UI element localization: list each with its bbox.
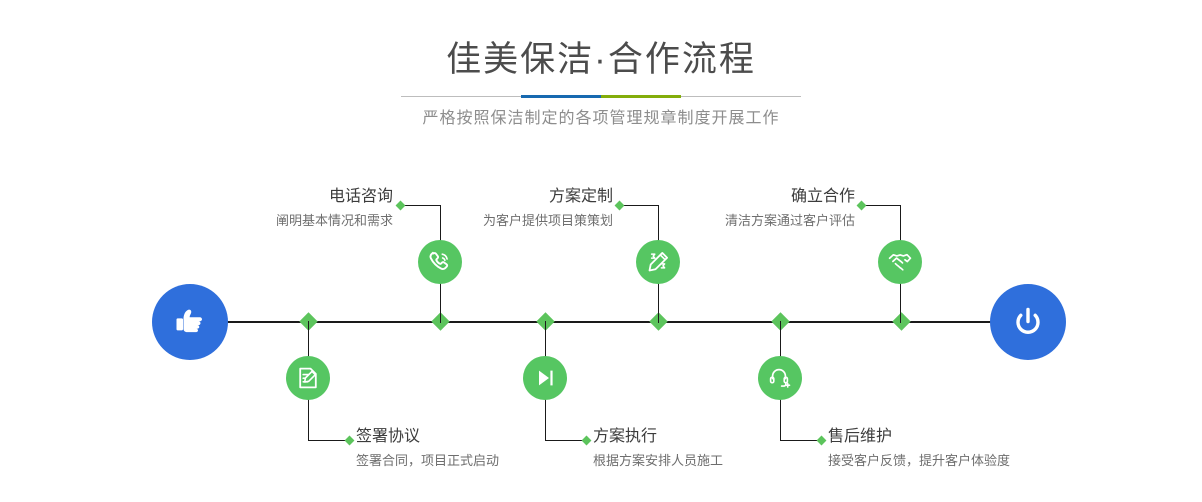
- step-desc-1: 阐明基本情况和需求: [150, 214, 393, 227]
- label-bullet-step5: [857, 201, 867, 211]
- step-label-1: 电话咨询 阐明基本情况和需求: [150, 189, 393, 227]
- step-icon-2: [286, 356, 330, 400]
- step-title-5: 确立合作: [612, 189, 855, 205]
- customer-support-icon: [767, 365, 793, 391]
- step-desc-5: 清洁方案通过客户评估: [612, 214, 855, 227]
- step-desc-6: 接受客户反馈，提升客户体验度: [828, 454, 1010, 467]
- step-desc-3: 为客户提供项目策策划: [370, 214, 613, 227]
- cooperation-flow-infographic: 佳美保洁·合作流程 严格按照保洁制定的各项管理规章制度开展工作: [0, 0, 1202, 502]
- header: 佳美保洁·合作流程: [0, 0, 1202, 77]
- play-execute-icon: [532, 365, 558, 391]
- step-icon-6: [758, 356, 802, 400]
- power-icon: [1008, 302, 1048, 342]
- sign-document-icon: [295, 365, 321, 391]
- pointing-hand-icon: [170, 302, 210, 342]
- step-desc-2: 签署合同，项目正式启动: [356, 454, 499, 467]
- step-icon-5: [878, 240, 922, 284]
- step-label-3: 方案定制 为客户提供项目策策划: [370, 189, 613, 227]
- step-icon-4: [523, 356, 567, 400]
- step-desc-4: 根据方案安排人员施工: [593, 454, 723, 467]
- step-icon-3: [636, 240, 680, 284]
- timeline-node: [892, 312, 910, 330]
- step-label-2: 签署协议 签署合同，项目正式启动: [356, 429, 499, 467]
- timeline-start-marker: [152, 284, 228, 360]
- phone-call-icon: [427, 249, 453, 275]
- page-title: 佳美保洁·合作流程: [0, 42, 1202, 77]
- title-divider: [401, 95, 801, 98]
- step-title-2: 签署协议: [356, 429, 499, 445]
- connector-stem-step5-horizontal: [861, 205, 901, 206]
- connector-stem-step6-horizontal: [780, 440, 821, 441]
- divider-segment-blue: [521, 95, 601, 98]
- handshake-icon: [887, 249, 913, 275]
- connector-stem-step2-horizontal: [308, 440, 349, 441]
- pencil-design-icon: [645, 249, 671, 275]
- step-title-3: 方案定制: [370, 189, 613, 205]
- step-label-5: 确立合作 清洁方案通过客户评估: [612, 189, 855, 227]
- divider-segment-green: [601, 95, 681, 98]
- step-title-1: 电话咨询: [150, 189, 393, 205]
- connector-stem-step4-horizontal: [545, 440, 586, 441]
- timeline-end-marker: [990, 284, 1066, 360]
- step-title-4: 方案执行: [593, 429, 723, 445]
- step-label-6: 售后维护 接受客户反馈，提升客户体验度: [828, 429, 1010, 467]
- page-subtitle: 严格按照保洁制定的各项管理规章制度开展工作: [0, 104, 1202, 128]
- step-icon-1: [418, 240, 462, 284]
- label-bullet-step2: [345, 436, 355, 446]
- label-bullet-step6: [817, 436, 827, 446]
- step-label-4: 方案执行 根据方案安排人员施工: [593, 429, 723, 467]
- step-title-6: 售后维护: [828, 429, 1010, 445]
- label-bullet-step4: [582, 436, 592, 446]
